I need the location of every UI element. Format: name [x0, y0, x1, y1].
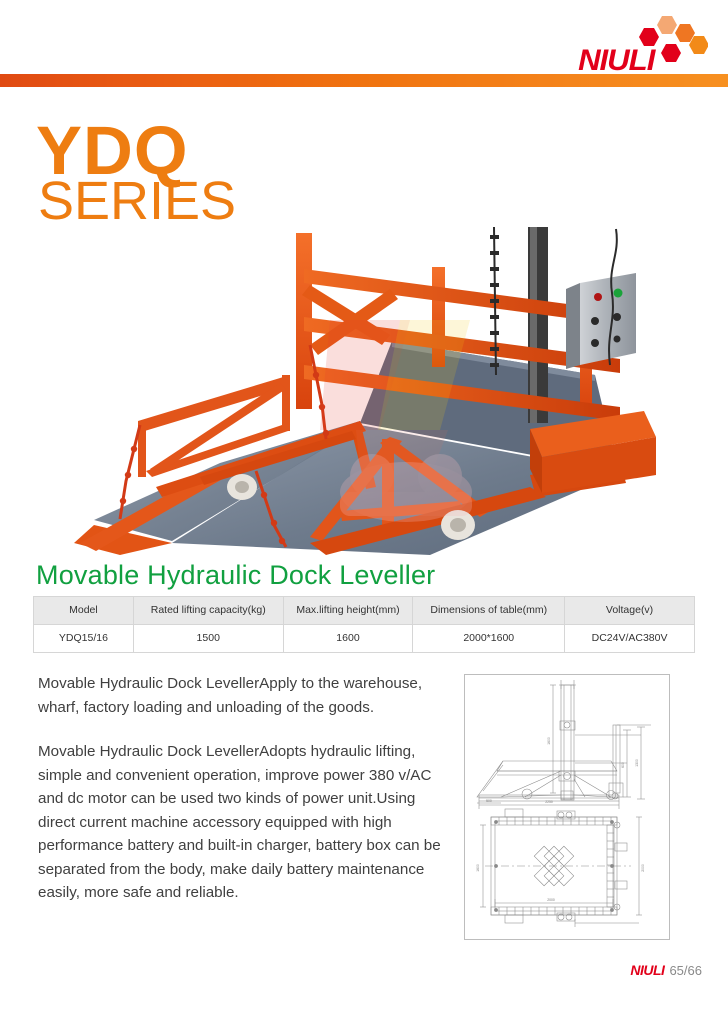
- svg-text:500: 500: [486, 799, 492, 803]
- table-header-dims: Dimensions of table(mm): [413, 597, 565, 625]
- brand-logo: NIULI: [520, 14, 710, 76]
- table-row: YDQ15/16 1500 1600 2000*1600 DC24V/AC380…: [34, 625, 695, 653]
- table-header-row: Model Rated lifting capacity(kg) Max.lif…: [34, 597, 695, 625]
- catalog-page: NIULI YDQ SERIES: [0, 0, 728, 1016]
- table-header-model: Model: [34, 597, 134, 625]
- svg-text:600: 600: [621, 762, 625, 768]
- cell-capacity: 1500: [133, 625, 283, 653]
- svg-text:2000: 2000: [641, 864, 645, 872]
- page-footer: NIULI 65/66: [630, 962, 702, 980]
- table-header-capacity: Rated lifting capacity(kg): [133, 597, 283, 625]
- page-header: NIULI: [0, 0, 728, 86]
- control-box-icon: [566, 273, 636, 369]
- cell-height: 1600: [283, 625, 413, 653]
- page-number: 65/66: [669, 963, 702, 978]
- niuli-watermark: [260, 280, 560, 540]
- description-paragraph-2: Movable Hydraulic Dock LevellerAdopts hy…: [38, 740, 442, 905]
- cell-voltage: DC24V/AC380V: [565, 625, 695, 653]
- page-title: Movable Hydraulic Dock Leveller: [36, 560, 435, 591]
- technical-drawing: 2250 500 2000 1600 2000 1600 600 1300: [464, 674, 670, 940]
- specification-table: Model Rated lifting capacity(kg) Max.lif…: [33, 596, 695, 653]
- product-photo: [60, 225, 700, 555]
- description-paragraph-1: Movable Hydraulic Dock LevellerApply to …: [38, 672, 442, 719]
- svg-text:2000: 2000: [547, 898, 555, 902]
- series-title: YDQ SERIES: [36, 118, 336, 233]
- cell-model: YDQ15/16: [34, 625, 134, 653]
- description-block: Movable Hydraulic Dock LevellerApply to …: [38, 672, 442, 926]
- cell-dims: 2000*1600: [413, 625, 565, 653]
- table-header-height: Max.lifting height(mm): [283, 597, 413, 625]
- table-header-voltage: Voltage(v): [565, 597, 695, 625]
- svg-text:1300: 1300: [635, 759, 639, 767]
- svg-text:1600: 1600: [547, 737, 551, 745]
- series-sub-label: SERIES: [38, 178, 336, 224]
- svg-text:2250: 2250: [545, 800, 553, 804]
- brand-name: NIULI: [578, 44, 654, 78]
- footer-brand: NIULI: [630, 962, 664, 978]
- svg-text:1600: 1600: [476, 864, 480, 872]
- header-accent-bar: [0, 74, 728, 87]
